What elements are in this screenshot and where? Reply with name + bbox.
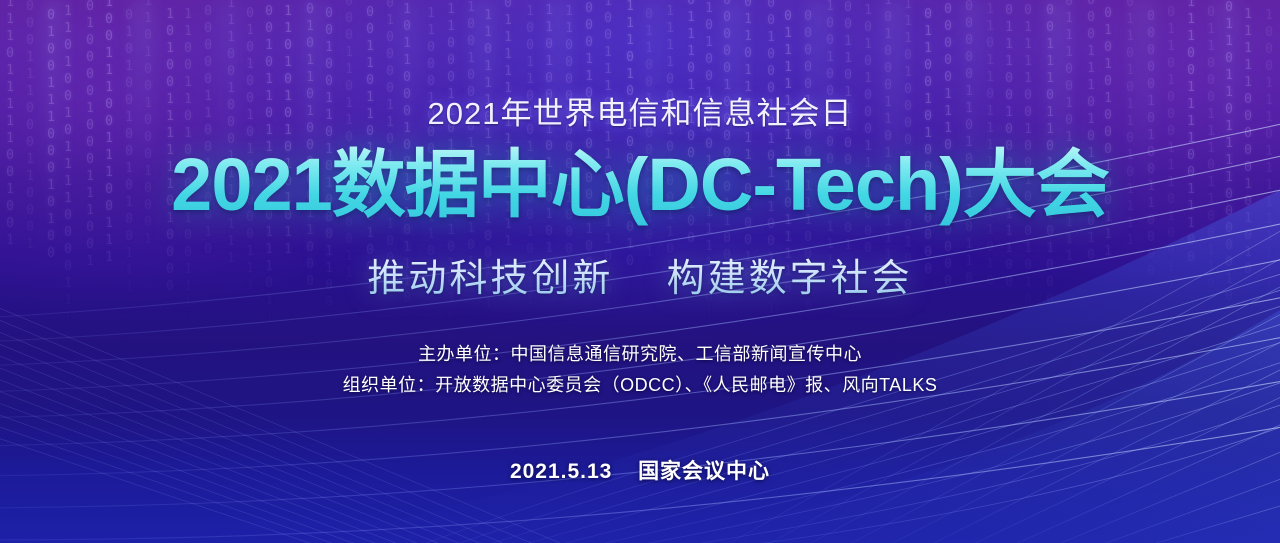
event-slogan: 推动科技创新 构建数字社会: [0, 247, 1280, 302]
slogan-part-one: 推动科技创新: [367, 258, 613, 300]
banner-content: 2021年世界电信和信息社会日 2021数据中心(DC-Tech)大会 推动科技…: [0, 0, 1280, 543]
event-date-venue: 2021.5.13 国家会议中心: [0, 455, 1280, 485]
event-venue: 国家会议中心: [638, 460, 770, 483]
conference-banner: 1 1 1 0 1 1 1 1 1 0 0 1 0 0 1 0 0 0 1 1 …: [0, 0, 1280, 543]
host-organizer-line: 主办单位：中国信息通信研究院、工信部新闻宣传中心: [0, 340, 1280, 366]
event-eyebrow-title: 2021年世界电信和信息社会日: [0, 88, 1280, 133]
slogan-part-two: 构建数字社会: [667, 258, 913, 300]
organizing-unit-line: 组织单位：开放数据中心委员会（ODCC）、《人民邮电》报、风向TALKS: [0, 371, 1280, 397]
page-title: 2021数据中心(DC-Tech)大会: [0, 143, 1280, 227]
event-date: 2021.5.13: [510, 460, 612, 483]
